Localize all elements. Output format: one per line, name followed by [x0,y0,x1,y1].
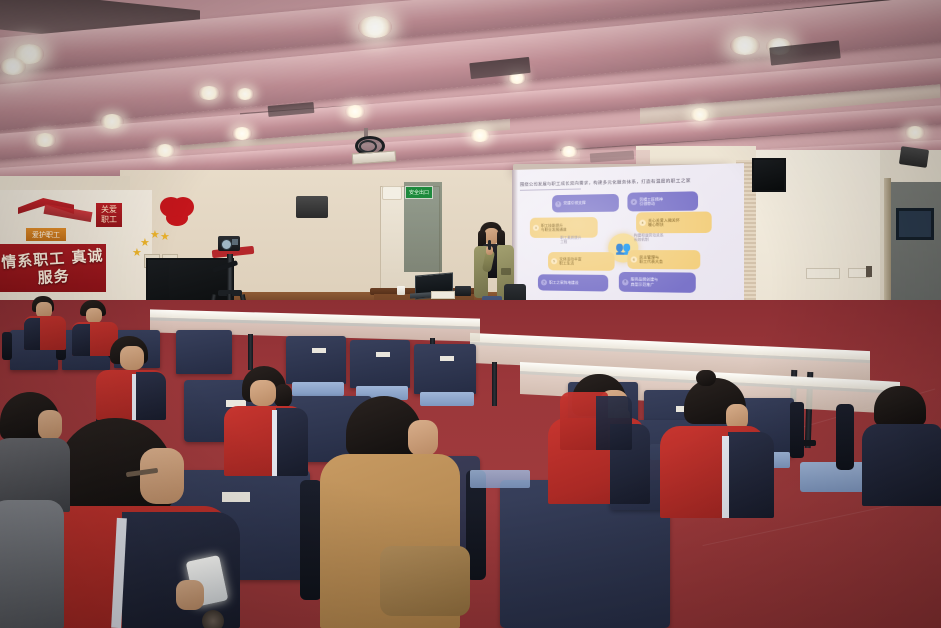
chair-armrest [836,404,854,470]
audience-member [862,386,941,506]
wall-tag-red: 关爱 职工 [96,203,122,227]
jacket-pocket [501,268,511,275]
table-leg [492,362,497,406]
person-head [86,308,102,323]
person-head [408,420,438,456]
wall-tag-red-line1: 关爱 [101,205,117,215]
chair-number-tag [376,352,390,357]
uniform-stripe [722,436,729,518]
chair-number-tag [440,356,454,361]
person-head [38,410,62,440]
star-icon: ★ [160,232,170,243]
person-arm [380,546,470,616]
meeting-room-photo: 安全出口 爱护职工 关爱 职工 情系职工 真诚服务 ★ ★ ★ ★ 围绕公司发展… [0,0,941,628]
wall-speaker-left [296,196,328,218]
tripod-pan-handle [212,260,238,273]
framed-picture [896,208,934,240]
uniform-on-chair [596,396,632,450]
ceiling-downlight [155,144,175,157]
ceiling-downlight [358,16,392,38]
star-icon: ★ [140,238,150,249]
person-uniform-navy [728,432,774,518]
light-switch-panel [806,268,840,279]
audience-member [96,336,172,418]
video-camera[interactable] [218,236,240,251]
person-uniform-navy [862,424,941,506]
auditorium-chair[interactable] [350,340,410,388]
wall-banner-text: 情系职工 真诚服务 [0,246,107,289]
auditorium-chair[interactable] [414,344,476,394]
ceiling-downlight [690,108,710,121]
person-uniform-navy [276,408,308,476]
ceiling-downlight [236,88,254,100]
chair-number-tag [312,348,326,353]
audience-member [0,392,80,512]
person-uniform-navy [122,512,240,628]
person-hand [176,580,204,610]
person-hair [874,386,926,426]
person-head [250,380,276,406]
ceiling-downlight [100,114,124,129]
audience-member [0,500,66,628]
person-uniform-navy [136,372,166,420]
wall-banner: 情系职工 真诚服务 [0,244,106,292]
ceiling-downlight [730,36,760,55]
ceiling-downlight [905,126,925,139]
name-card [431,291,455,299]
person-head [120,346,144,370]
ceiling-downlight [470,129,490,142]
ceiling-downlight [232,127,252,140]
star-icon: ★ [150,230,160,241]
uniform-button [202,610,224,628]
uniform-stripe [132,374,136,420]
person-head [140,448,184,504]
exit-sign: 安全出口 [405,186,433,199]
handheld-microphone [488,240,491,250]
wall-monitor-right [752,158,786,192]
wall-sensor [866,266,872,277]
ceiling-downlight [0,58,26,75]
ceiling-speaker [899,146,929,168]
av-device [455,286,471,296]
camera-lens-icon [221,239,232,250]
chair-armrest [790,402,804,458]
star-icon: ★ [132,248,142,259]
audience-member [30,306,76,348]
wall-tag-orange: 爱护职工 [26,228,66,241]
camera-screen [232,239,238,245]
ceiling-downlight [34,133,56,147]
person-hair-bun [696,370,716,386]
table-leg [248,334,253,370]
ceiling-downlight [345,105,365,118]
wall-tag-orange-label: 爱护职工 [32,230,60,240]
tripod-column [227,254,233,294]
emergency-light [382,186,402,200]
heart-decoration [166,206,188,226]
chair-armrest [300,480,322,600]
cup [397,286,405,295]
uniform-stripe [272,410,277,476]
ceiling-downlight [198,86,220,100]
wall-tag-red-line2: 职工 [101,215,117,225]
ceiling-downlight [560,146,578,157]
audience-member [320,396,470,628]
chair-seat [470,470,530,488]
person-ponytail [274,384,292,408]
person-jacket-grey [0,500,64,628]
chair-armrest [2,332,12,360]
audience-member [660,378,780,518]
